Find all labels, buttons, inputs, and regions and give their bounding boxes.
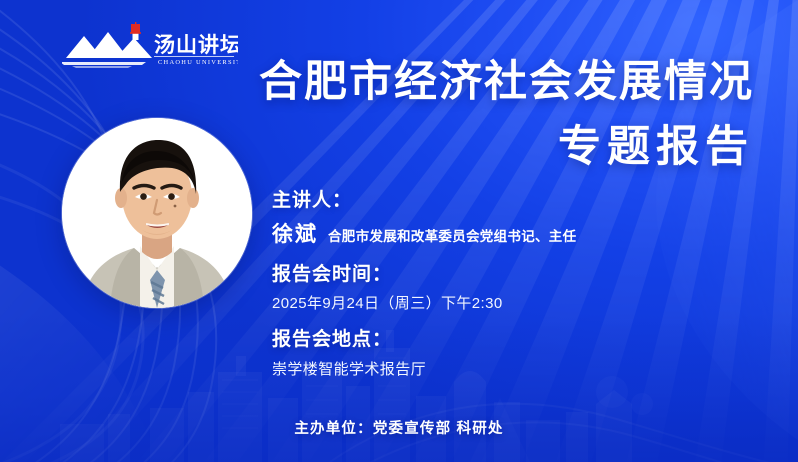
time-group: 报告会时间： 2025年9月24日（周三）下午2:30 — [272, 262, 576, 314]
organizer-footer: 主办单位：党委宣传部 科研处 — [0, 417, 798, 438]
speaker-portrait — [62, 118, 252, 308]
place-group: 报告会地点： 崇学楼智能学术报告厅 — [272, 327, 576, 379]
speaker-title: 合肥市发展和改革委员会党组书记、主任 — [328, 225, 576, 245]
pagoda-icon — [130, 22, 141, 40]
time-value: 2025年9月24日（周三）下午2:30 — [272, 292, 576, 313]
logo-english-name: CHAOHU UNIVERSITY — [158, 59, 238, 66]
place-label: 报告会地点： — [272, 327, 576, 353]
time-label: 报告会时间： — [272, 262, 576, 288]
headline-line-1: 合肥市经济社会发展情况 — [259, 57, 754, 108]
chaohu-university-logo: 汤山讲坛 CHAOHU UNIVERSITY — [62, 22, 238, 72]
speaker-name: 徐斌 — [272, 218, 318, 248]
headline-line-2: 专题报告 — [259, 122, 754, 173]
event-details: 主讲人： 徐斌 合肥市发展和改革委员会党组书记、主任 报告会时间： 2025年9… — [272, 188, 576, 379]
logo-chinese-name: 汤山讲坛 — [154, 33, 238, 57]
event-poster: 汤山讲坛 CHAOHU UNIVERSITY — [0, 0, 798, 462]
speaker-group: 主讲人： 徐斌 合肥市发展和改革委员会党组书记、主任 — [272, 188, 576, 248]
speaker-label: 主讲人： — [272, 188, 576, 214]
poster-headline: 合肥市经济社会发展情况 专题报告 — [259, 57, 754, 172]
place-value: 崇学楼智能学术报告厅 — [272, 358, 576, 379]
speaker-row: 徐斌 合肥市发展和改革委员会党组书记、主任 — [272, 218, 576, 248]
